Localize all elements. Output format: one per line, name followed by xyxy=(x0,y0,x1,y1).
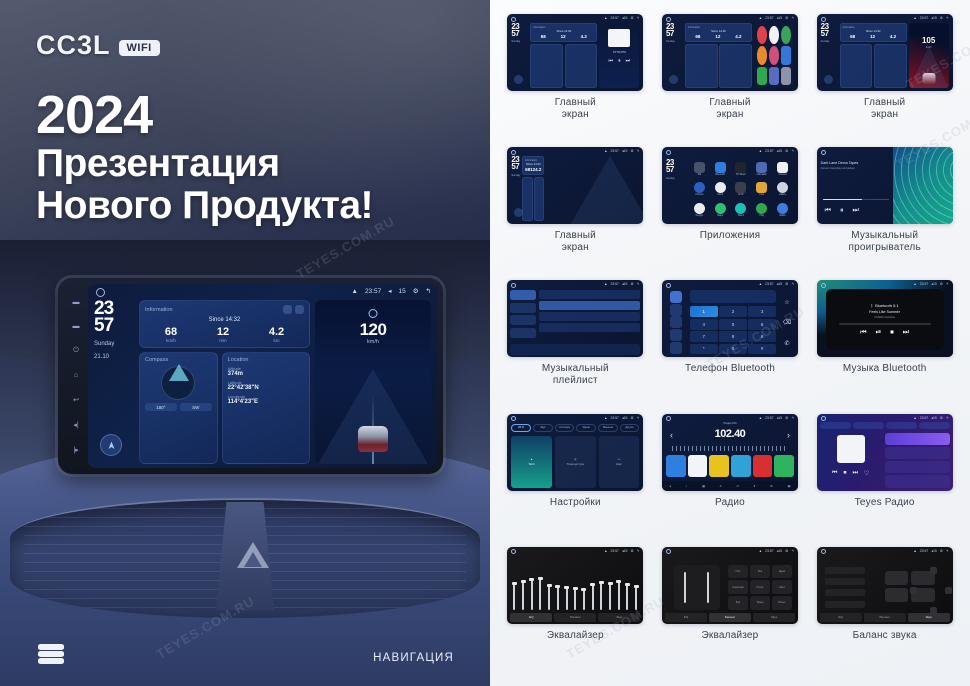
dialpad[interactable]: 1 2 3 4 5 6 7 8 9 * 0 # xyxy=(690,306,776,354)
balance-up-arrow[interactable] xyxy=(930,567,937,574)
navigation-button[interactable] xyxy=(100,434,122,456)
media-controls[interactable]: ⏮⏸⏭ xyxy=(599,58,639,64)
dialpad-key[interactable]: * xyxy=(690,344,718,355)
sidebar-item-dialpad xyxy=(670,291,682,303)
tab-sound[interactable]: Звук xyxy=(533,424,553,432)
list-item xyxy=(539,301,640,310)
preset-button[interactable]: Поп xyxy=(728,565,748,579)
stat-speed-label: km/h xyxy=(165,338,177,343)
frequency-scale[interactable] xyxy=(672,446,788,451)
equalizer-tabs[interactable]: EQ Баланс Звук xyxy=(510,613,640,622)
thumbnail-caption: Баланс звука xyxy=(853,630,917,642)
thumbnail-music-player[interactable]: ▲23:57◂15⚙↰ Dark Lane Demo Tapes Forever… xyxy=(817,147,953,224)
mini-speed-value: 105 xyxy=(909,36,949,45)
dialpad-key[interactable]: 1 xyxy=(690,306,718,317)
thumbnail-bluetooth-music[interactable]: ▲23:57◂15⚙↰ ᛒ Bluetooth 5.1 Feels Like S… xyxy=(817,280,953,357)
tab-display[interactable]: Экран xyxy=(576,424,596,432)
speed-value: 120 xyxy=(315,320,431,340)
navigation-arrow-icon xyxy=(106,440,117,451)
app-item[interactable]: Camera xyxy=(773,159,792,178)
thumbnail-caption: Эквалайзер xyxy=(547,630,604,642)
sidebar-power-icon[interactable]: ⏻ xyxy=(73,347,79,355)
tab-sound[interactable]: Звук xyxy=(908,613,950,622)
mini-app-panel[interactable] xyxy=(754,23,794,88)
app-item[interactable]: Gallery xyxy=(773,180,792,199)
teyes-station-list[interactable] xyxy=(885,433,950,488)
compass-dial xyxy=(161,366,195,400)
grid-cell[interactable]: ▲23:57◂15⚙↰ 23 57 Sunday AM Bluetooth BT… xyxy=(655,147,806,278)
thumbnail-sound-balance[interactable]: ▲23:57◂15⚙↰ EQ Баланс Звук xyxy=(817,547,953,624)
location-title: Location xyxy=(228,357,304,363)
app-item[interactable]: BT Music xyxy=(732,159,751,178)
car-icon xyxy=(922,73,935,84)
eq-band-slider[interactable] xyxy=(618,580,620,610)
thumbnail-home-apps[interactable]: ▲23:57◂15⚙↰ 23 57 Sunday Information Sin… xyxy=(662,14,798,91)
hero-footer: НАВИГАЦИЯ xyxy=(0,626,490,686)
clock-minutes: 57 xyxy=(94,317,134,334)
grid-cell[interactable]: ▲23:57◂15⚙↰ 23 57 Sunday Information Sin… xyxy=(500,147,651,278)
mini-player-bar[interactable] xyxy=(510,344,640,355)
dialpad-key[interactable]: 6 xyxy=(748,319,776,330)
phone-number-input[interactable] xyxy=(690,290,776,303)
status-bar: ▲23:57◂15⚙↰ xyxy=(913,16,948,20)
dialpad-key[interactable]: 5 xyxy=(719,319,747,330)
information-stats: 68 km/h 12 min 4.2 km xyxy=(145,326,304,343)
mini-compass-card xyxy=(522,177,532,222)
hero-title-line2: Нового Продукта! xyxy=(36,185,373,227)
home-icon xyxy=(821,17,826,22)
mini-widget-row xyxy=(685,44,752,89)
hotspot-icon: ◍ xyxy=(574,458,576,461)
grid-cell[interactable]: ▲23:57◂15⚙↰ 23 57 Sunday Information Sin… xyxy=(500,14,651,145)
eq-band-slider[interactable] xyxy=(557,585,559,610)
settings-card-wifi[interactable]: ▲ Wi-Fi xyxy=(511,436,552,488)
preset-button[interactable]: Рок xyxy=(750,565,770,579)
tab-balance[interactable]: Баланс xyxy=(864,613,906,622)
mini-information-card: Information Since 14:32 68 12 4.2 xyxy=(685,23,752,42)
wifi-icon: ▲ xyxy=(530,458,533,461)
home-icon xyxy=(666,549,671,554)
status-time: 23:57 xyxy=(365,288,381,295)
sidebar-prev-icon[interactable]: ◂| xyxy=(73,421,78,429)
volume-level: 15 xyxy=(398,288,405,295)
eq-band-slider[interactable] xyxy=(635,585,637,610)
grid-cell[interactable]: ▲23:57◂15⚙↰ Радио FM ‹ 102.40 › ◂⌕▦≡↺♥⚙▣… xyxy=(655,414,806,545)
next-station-icon[interactable]: › xyxy=(787,430,790,440)
information-card[interactable]: Information Since 14:32 68 xyxy=(139,300,310,348)
grid-cell[interactable]: ▲23:57◂15⚙↰ xyxy=(500,547,651,678)
equalizer-tabs[interactable]: EQ Баланс Звук xyxy=(820,613,950,622)
thumbnail-home-speed[interactable]: ▲23:57◂15⚙↰ 23 57 Sunday Information Sin… xyxy=(817,14,953,91)
stat-distance-label: km xyxy=(269,338,284,343)
radio-presets[interactable] xyxy=(666,455,794,477)
home-icon xyxy=(821,283,826,288)
mini-stat-1: 68 xyxy=(541,34,546,39)
thumbnail-caption: Главный экран xyxy=(555,97,596,121)
grid-cell[interactable]: ▲23:57◂15⚙↰ Музыкальный плейлист xyxy=(500,280,651,411)
head-unit-side-buttons[interactable]: ▬ ▬ ⏻ ⌂ ↩ ◂| |▸ xyxy=(66,290,86,462)
radio-band-label: Радио FM xyxy=(662,421,798,425)
album-art xyxy=(608,29,630,47)
prev-icon: ⏮ xyxy=(832,470,837,477)
volume-icon: ◂ xyxy=(388,287,391,295)
information-title: Information xyxy=(145,307,173,313)
mini-location-card xyxy=(534,177,544,222)
thumbnail-equalizer-presets[interactable]: ▲23:57◂15⚙↰ Поп Рок Джаз Классика Голос … xyxy=(662,547,798,624)
eq-band-slider[interactable] xyxy=(548,584,550,610)
compass-card[interactable]: Compass 180° SW xyxy=(139,352,218,464)
eq-band-slider[interactable] xyxy=(522,580,524,610)
status-bar: ▲ 23:57 ◂ 15 ⚙ ↰ xyxy=(352,287,432,295)
status-bar: ▲23:57◂15⚙↰ xyxy=(913,282,948,286)
navigation-button[interactable] xyxy=(669,75,678,84)
list-item xyxy=(539,290,640,299)
tab-sound[interactable]: Звук xyxy=(753,613,795,622)
eq-band-slider[interactable] xyxy=(626,583,628,610)
mini-media-panel: 07:50 PM ⏮⏸⏭ xyxy=(599,23,639,88)
tab-eq[interactable]: EQ xyxy=(510,613,552,622)
status-bar: ▲23:57◂15⚙↰ xyxy=(604,282,639,286)
eq-band-slider[interactable] xyxy=(513,582,515,610)
mini-day: Sunday xyxy=(511,40,528,43)
album-art xyxy=(837,435,865,463)
tab-balance[interactable]: Баланс xyxy=(554,613,596,622)
hud-icon xyxy=(369,309,378,318)
thumbnail-bluetooth-phone[interactable]: ▲23:57◂15⚙↰ 1 2 3 4 5 6 7 8 9 * 0 xyxy=(662,280,798,357)
preset-row xyxy=(825,567,865,574)
bluetooth-version-label: Bluetooth 5.1 xyxy=(875,303,899,308)
balance-left-arrow[interactable] xyxy=(910,587,917,594)
grid-cell[interactable]: ▲23:57◂15⚙↰ ⏮⏹⏭♡ Teyes Радио xyxy=(809,414,960,545)
grid-cell[interactable]: ▲23:57◂15⚙↰ Dark Lane Demo Tapes Forever… xyxy=(809,147,960,278)
playlist-items[interactable] xyxy=(539,290,640,343)
home-icon xyxy=(511,549,516,554)
prev-icon[interactable]: ⏮ xyxy=(825,207,831,215)
dialpad-key[interactable]: 7 xyxy=(690,331,718,342)
speaker-rear-left xyxy=(885,588,909,602)
favorite-icon[interactable]: ☆ xyxy=(784,299,789,306)
eq-band-slider[interactable] xyxy=(609,582,611,610)
grid-cell[interactable]: ▲23:57◂15⚙↰ ᛒ Bluetooth 5.1 Feels Like S… xyxy=(809,280,960,411)
mini-home: 23 57 Sunday Information Since 14:32 68 xyxy=(511,23,639,88)
home-icon xyxy=(511,416,516,421)
prev-icon: ⏮ xyxy=(609,58,614,64)
mini-home: 23 57 Sunday Information Since 14:32 68 xyxy=(666,23,794,88)
call-icon[interactable]: ✆ xyxy=(784,340,789,347)
eq-band-slider[interactable] xyxy=(531,578,533,610)
status-bar: ▲23:57◂15⚙↰ xyxy=(604,16,639,20)
status-bar: ▲23:57◂15⚙↰ xyxy=(604,549,639,553)
head-unit: ▬ ▬ ⏻ ⌂ ↩ ◂| |▸ ▲ 23:57 ◂ 15 ⚙ xyxy=(58,278,443,474)
gear-icon[interactable]: ⚙ xyxy=(413,287,419,295)
eq-band-slider[interactable] xyxy=(566,586,568,609)
tab-eq[interactable]: EQ xyxy=(665,613,707,622)
mini-clock: 23 57 Sunday xyxy=(666,23,683,88)
thumbnail-teyes-radio[interactable]: ▲23:57◂15⚙↰ ⏮⏹⏭♡ xyxy=(817,414,953,491)
status-bar: ▲23:57◂15⚙↰ xyxy=(759,16,794,20)
thumbnail-playlist[interactable]: ▲23:57◂15⚙↰ xyxy=(507,280,643,357)
sidebar-item-history xyxy=(670,329,682,341)
sidebar-volume-down-icon[interactable]: ▬ xyxy=(73,323,80,330)
mini-widgets: Information Since 14:32 68 12 4.2 xyxy=(530,23,597,88)
settings-card-label: Ещё xyxy=(616,463,621,466)
mini-information-card: Information Since 14:32 68 12 4.2 xyxy=(840,23,907,42)
status-bar: ▲23:57◂15⚙↰ xyxy=(604,149,639,153)
mini-minutes: 57 xyxy=(511,30,528,37)
eq-band-slider[interactable] xyxy=(539,577,541,609)
mini-location-card xyxy=(874,44,907,89)
status-bar: ▲23:57◂15⚙↰ xyxy=(604,416,639,420)
compass-title: Compass xyxy=(145,357,212,363)
tab-eq[interactable]: EQ xyxy=(820,613,862,622)
app-item[interactable]: Play xyxy=(752,201,771,220)
longitude-row: Longitude 114°4'23"E xyxy=(228,394,304,405)
balance-presets[interactable] xyxy=(825,565,865,610)
refresh-icon[interactable] xyxy=(283,305,292,314)
next-icon[interactable]: ⏭ xyxy=(852,207,858,215)
eq-band-slider[interactable] xyxy=(574,587,576,610)
play-pause-icon[interactable]: ⏯ xyxy=(876,329,882,337)
grid-cell[interactable]: ▲23:57◂15⚙↰ Поп Рок Джаз Классика Голос … xyxy=(655,547,806,678)
preset-row xyxy=(825,601,865,608)
stat-item: 68 km/h xyxy=(165,326,177,343)
track-title: Feels Like Summer xyxy=(869,310,900,314)
mini-info-since: Since 14:32 xyxy=(533,29,594,33)
dialpad-key[interactable]: 9 xyxy=(748,331,776,342)
screenshot-grid-panel: ▲23:57◂15⚙↰ 23 57 Sunday Information Sin… xyxy=(490,0,970,686)
radio-toolbar[interactable]: ◂⌕▦≡↺♥⚙▣ xyxy=(662,481,798,491)
mini-stat-2: 12 xyxy=(561,34,566,39)
eq-band-slider[interactable] xyxy=(600,581,602,610)
mini-home: 23 57 Sunday Information Since 14:32 68 xyxy=(511,156,639,221)
wifi-badge: WIFI xyxy=(119,40,160,56)
favorite-icon: ♡ xyxy=(864,470,869,477)
caption-line2: экран xyxy=(555,109,596,121)
app-item[interactable]: AM xyxy=(690,159,709,178)
information-since: Since 14:32 xyxy=(145,317,304,323)
wifi-icon: ▲ xyxy=(352,288,358,295)
app-item[interactable]: Chrome xyxy=(690,180,709,199)
grid-cell[interactable]: ▲23:57◂15⚙↰ Wi-Fi Звук Система Экран Маш… xyxy=(500,414,651,545)
thumbnail-apps[interactable]: ▲23:57◂15⚙↰ 23 57 Sunday AM Bluetooth BT… xyxy=(662,147,798,224)
tab-system[interactable]: Система xyxy=(555,424,575,432)
grid-cell[interactable]: ▲23:57◂15⚙↰ 1 2 3 4 5 6 7 8 9 * 0 xyxy=(655,280,806,411)
progress-bar[interactable] xyxy=(823,199,889,201)
grid-cell[interactable]: ▲23:57◂15⚙↰ EQ Баланс Звук Баланс звука xyxy=(809,547,960,678)
back-icon[interactable]: ↰ xyxy=(426,287,431,295)
waveform-icon xyxy=(893,147,953,224)
mini-widget-row xyxy=(840,44,907,89)
track-time: 07:50 PM xyxy=(599,50,639,54)
sidebar-item-folders xyxy=(510,328,536,338)
app-item[interactable]: DVR xyxy=(732,180,751,199)
altitude-row: Altitude 374m xyxy=(228,366,304,377)
app-item[interactable]: Bluetooth xyxy=(711,159,730,178)
pause-icon: ⏸ xyxy=(618,58,621,64)
mini-clock: 23 57 Sunday xyxy=(821,23,838,88)
phone-actions[interactable]: ☆ ⌫ ✆ xyxy=(779,292,795,353)
settings-cards[interactable]: ▲ Wi-Fi ◍ Точка доступа ••• Ещё xyxy=(511,436,639,488)
mini-speed-unit: km/h xyxy=(909,46,949,49)
app-item[interactable]: Music xyxy=(732,201,751,220)
tab-car[interactable]: Машина xyxy=(598,424,618,432)
tab-other[interactable]: Другое xyxy=(620,424,640,432)
dialpad-key[interactable]: 0 xyxy=(719,344,747,355)
thumbnail-settings[interactable]: ▲23:57◂15⚙↰ Wi-Fi Звук Система Экран Маш… xyxy=(507,414,643,491)
information-header: Information xyxy=(145,305,304,314)
clock-column: 23 57 Sunday 21.10 xyxy=(94,300,134,464)
balance-right-arrow[interactable] xyxy=(945,587,952,594)
media-controls[interactable]: ⏮ ⏸ ⏭ xyxy=(825,207,859,215)
prev-icon[interactable]: ⏮ xyxy=(860,329,866,337)
sidebar-back-icon[interactable]: ↩ xyxy=(73,396,79,404)
mini-info-since: Since 14:32 xyxy=(688,29,749,33)
settings-card-more[interactable]: ••• Ещё xyxy=(599,436,640,488)
app-item[interactable]: Calculator xyxy=(752,159,771,178)
phone-sidebar[interactable] xyxy=(665,290,687,354)
app-drawer[interactable]: AM Bluetooth BT Music Calculator Camera … xyxy=(688,157,794,221)
thumbnail-caption: Приложения xyxy=(700,230,761,242)
mini-info-stats: 68 12 4.2 xyxy=(688,34,749,39)
settings-tabs[interactable]: Wi-Fi Звук Система Экран Машина Другое xyxy=(511,424,639,432)
thumbnail-radio[interactable]: ▲23:57◂15⚙↰ Радио FM ‹ 102.40 › ◂⌕▦≡↺♥⚙▣ xyxy=(662,414,798,491)
list-item xyxy=(539,312,640,321)
location-card[interactable]: Location Altitude 374m Latitude 22°42'38… xyxy=(222,352,310,464)
backspace-icon[interactable]: ⌫ xyxy=(783,319,791,326)
pause-icon[interactable]: ⏸ xyxy=(840,207,844,215)
equalizer-bands[interactable] xyxy=(513,565,637,610)
track-artist: Forever everyday everywhere xyxy=(821,167,893,170)
mini-location-card xyxy=(719,44,752,89)
app-shortcuts[interactable] xyxy=(757,26,791,85)
mini-information-card: Information Since 14:32 68 12 4.2 xyxy=(530,23,597,42)
information-actions[interactable] xyxy=(283,305,304,314)
compass-direction: SW xyxy=(180,403,212,411)
app-item[interactable]: Maps xyxy=(711,201,730,220)
mini-home: 23 57 Sunday Information Since 14:32 68 xyxy=(821,23,949,88)
sidebar-next-icon[interactable]: |▸ xyxy=(73,446,78,454)
eq-band-slider[interactable] xyxy=(583,588,585,610)
mini-widgets: Information Since 14:32 68 12 4.2 xyxy=(685,23,752,88)
thumbnail-home-media[interactable]: ▲23:57◂15⚙↰ 23 57 Sunday Information Sin… xyxy=(507,14,643,91)
home-icon[interactable] xyxy=(96,288,105,297)
dialpad-key[interactable]: 3 xyxy=(748,306,776,317)
sidebar-volume-up-icon[interactable]: ▬ xyxy=(73,299,80,306)
settings-card-label: Точка доступа xyxy=(567,463,584,466)
preset-button[interactable]: Польз. xyxy=(772,596,792,610)
thumbnail-caption: Настройки xyxy=(550,497,601,509)
grid-cell[interactable]: ▲23:57◂15⚙↰ 23 57 Sunday Information Sin… xyxy=(655,14,806,145)
longitude-value: 114°4'23"E xyxy=(228,399,304,405)
home-icon xyxy=(511,17,516,22)
tab-sound[interactable]: Звук xyxy=(598,613,640,622)
grid-cell[interactable]: ▲23:57◂15⚙↰ 23 57 Sunday Information Sin… xyxy=(809,14,960,145)
sidebar-home-icon[interactable]: ⌂ xyxy=(74,372,78,379)
teyes-radio-tabs[interactable] xyxy=(820,422,950,429)
stat-item: 4.2 km xyxy=(269,326,284,343)
logo-text: CC3L xyxy=(36,30,111,61)
equalizer-preset-buttons[interactable]: Поп Рок Джаз Классика Голос Авто Бас Тан… xyxy=(728,565,792,610)
list-item xyxy=(885,461,950,473)
more-icon: ••• xyxy=(618,458,621,461)
preset-button[interactable]: Голос xyxy=(750,580,770,594)
preset-button[interactable]: Авто xyxy=(772,580,792,594)
preset-button[interactable]: Танец xyxy=(750,596,770,610)
mini-clock: 23 57 Sunday xyxy=(666,159,675,180)
head-unit-screen[interactable]: ▲ 23:57 ◂ 15 ⚙ ↰ 23 57 Sunday 21.10 xyxy=(88,284,437,468)
app-item[interactable]: Clock xyxy=(711,180,730,199)
dialpad-key[interactable]: 2 xyxy=(719,306,747,317)
settings-card-hotspot[interactable]: ◍ Точка доступа xyxy=(555,436,596,488)
dialpad-key[interactable]: 8 xyxy=(719,331,747,342)
next-icon[interactable]: ⏭ xyxy=(903,329,909,337)
home-icon xyxy=(666,150,671,155)
progress-bar[interactable] xyxy=(839,323,931,324)
app-item[interactable]: Google xyxy=(690,201,709,220)
stop-icon[interactable]: ⏹ xyxy=(890,329,894,337)
home-icon xyxy=(511,150,516,155)
speed-panel[interactable]: 120 km/h xyxy=(315,300,431,464)
widgets-column: Information Since 14:32 68 xyxy=(139,300,310,464)
compass-heading: 180° xyxy=(145,403,177,411)
list-item xyxy=(885,433,950,445)
equalizer-tabs[interactable]: EQ Баланс Звук xyxy=(665,613,795,622)
mini-minutes: 57 xyxy=(666,30,683,37)
list-item xyxy=(885,475,950,487)
preset-row xyxy=(825,589,865,596)
home-icon xyxy=(666,283,671,288)
mini-info-stats: 68 12 4.2 xyxy=(525,167,541,172)
dialpad-key[interactable]: # xyxy=(748,344,776,355)
thumbnail-caption: Музыкальный плейлист xyxy=(542,363,609,387)
preset-button[interactable]: Классика xyxy=(728,580,748,594)
clock-date: 21.10 xyxy=(94,354,134,362)
mini-compass-card xyxy=(685,44,718,89)
slider-bass xyxy=(684,572,686,604)
navigation-button[interactable] xyxy=(824,75,833,84)
media-controls[interactable]: ⏮ ⏯ ⏹ ⏭ xyxy=(860,329,909,337)
home-icon xyxy=(821,150,826,155)
hero-panel: CC3L WIFI 2024 Презентация Нового Продук… xyxy=(0,0,490,686)
status-bar: ▲23:57◂15⚙↰ xyxy=(759,549,794,553)
presentation-slide: CC3L WIFI 2024 Презентация Нового Продук… xyxy=(0,0,970,686)
thumbnail-home-road[interactable]: ▲23:57◂15⚙↰ 23 57 Sunday Information Sin… xyxy=(507,147,643,224)
app-item[interactable]: Files xyxy=(752,180,771,199)
preset-button[interactable]: Джаз xyxy=(772,565,792,579)
stat-time-value: 12 xyxy=(217,326,229,338)
dialpad-key[interactable]: 4 xyxy=(690,319,718,330)
thumbnail-equalizer-sliders[interactable]: ▲23:57◂15⚙↰ xyxy=(507,547,643,624)
navigation-label: НАВИГАЦИЯ xyxy=(373,652,454,664)
next-icon: ⏭ xyxy=(852,470,857,477)
sidebar-item-artists xyxy=(510,303,536,313)
now-playing: Dark Lane Demo Tapes Forever everyday ev… xyxy=(821,157,893,220)
bass-treble-sliders[interactable] xyxy=(674,565,720,610)
tab-wifi[interactable]: Wi-Fi xyxy=(511,424,531,432)
media-controls[interactable]: ⏮⏹⏭♡ xyxy=(821,470,881,477)
app-item[interactable]: Radio xyxy=(773,201,792,220)
preset-button[interactable]: Бас xyxy=(728,596,748,610)
thumbnail-caption: Главный экран xyxy=(555,230,596,254)
tab-balance[interactable]: Баланс xyxy=(709,613,751,622)
expand-icon[interactable] xyxy=(295,305,304,314)
home-icon xyxy=(821,416,826,421)
clock-weekday: Sunday xyxy=(94,341,134,349)
screenshot-grid: ▲23:57◂15⚙↰ 23 57 Sunday Information Sin… xyxy=(500,14,960,678)
eq-band-slider[interactable] xyxy=(592,583,594,610)
navigation-button[interactable] xyxy=(514,75,523,84)
product-logo: CC3L WIFI xyxy=(36,30,160,61)
